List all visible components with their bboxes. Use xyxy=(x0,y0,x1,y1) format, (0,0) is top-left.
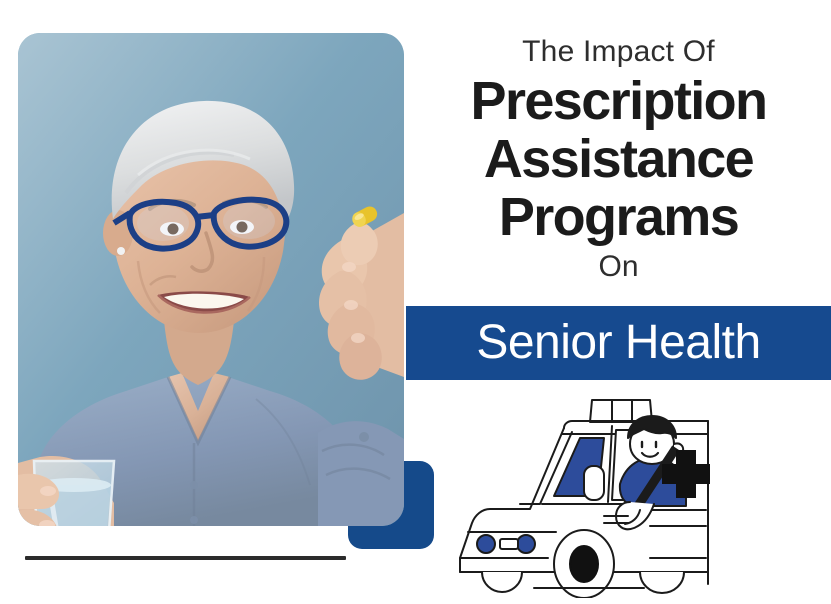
headline-line-1: Prescription xyxy=(406,72,831,130)
ambulance-illustration xyxy=(444,392,734,598)
title-connector: On xyxy=(406,250,831,284)
title-headline: Prescription Assistance Programs xyxy=(406,72,831,246)
banner-text: Senior Health xyxy=(476,319,760,367)
ambulance-with-driver-icon xyxy=(444,392,734,598)
senior-woman-photo-illustration xyxy=(18,33,404,526)
title-block: The Impact Of Prescription Assistance Pr… xyxy=(406,34,831,284)
horizontal-rule xyxy=(25,556,346,560)
poster-canvas: The Impact Of Prescription Assistance Pr… xyxy=(0,0,831,604)
headline-line-3: Programs xyxy=(406,188,831,246)
subject-banner: Senior Health xyxy=(406,306,831,380)
headline-line-2: Assistance xyxy=(406,130,831,188)
title-kicker: The Impact Of xyxy=(406,34,831,70)
hero-photo xyxy=(18,33,404,526)
